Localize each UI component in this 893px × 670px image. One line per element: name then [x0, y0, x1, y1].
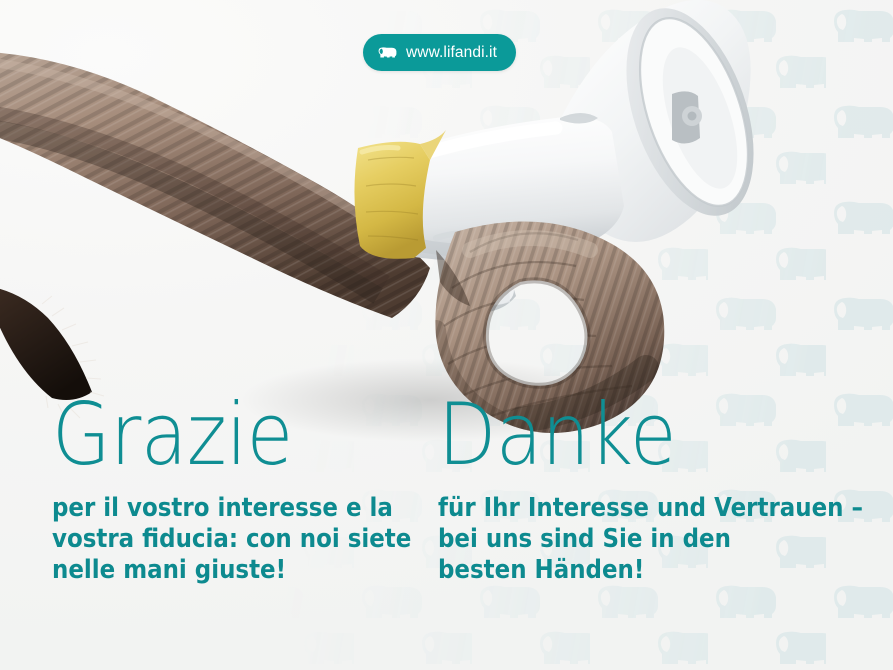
body-line: besten Händen!: [438, 555, 816, 586]
poster-canvas: www.lifandi.it Grazie per il vostro inte…: [0, 0, 893, 670]
website-url-badge[interactable]: www.lifandi.it: [363, 34, 516, 71]
body-line: per il vostro interesse e la: [52, 493, 385, 524]
headline-italian: Grazie: [52, 396, 378, 475]
body-copy-italian: per il vostro interesse e la vostra fidu…: [52, 493, 385, 586]
message-column-italian: Grazie per il vostro interesse e la vost…: [52, 396, 422, 586]
body-line: bei uns sind Sie in den: [438, 524, 816, 555]
headline-german: Danke: [438, 396, 808, 475]
body-copy-german: für Ihr Interesse und Vertrauen – bei un…: [438, 493, 816, 586]
body-line: vostra fiducia: con noi siete: [52, 524, 385, 555]
body-line: für Ihr Interesse und Vertrauen –: [438, 493, 816, 524]
elephant-icon: [378, 44, 397, 61]
body-line: nelle mani giuste!: [52, 555, 385, 586]
message-column-german: Danke für Ihr Interesse und Vertrauen – …: [438, 396, 858, 586]
website-url-text: www.lifandi.it: [406, 45, 497, 61]
